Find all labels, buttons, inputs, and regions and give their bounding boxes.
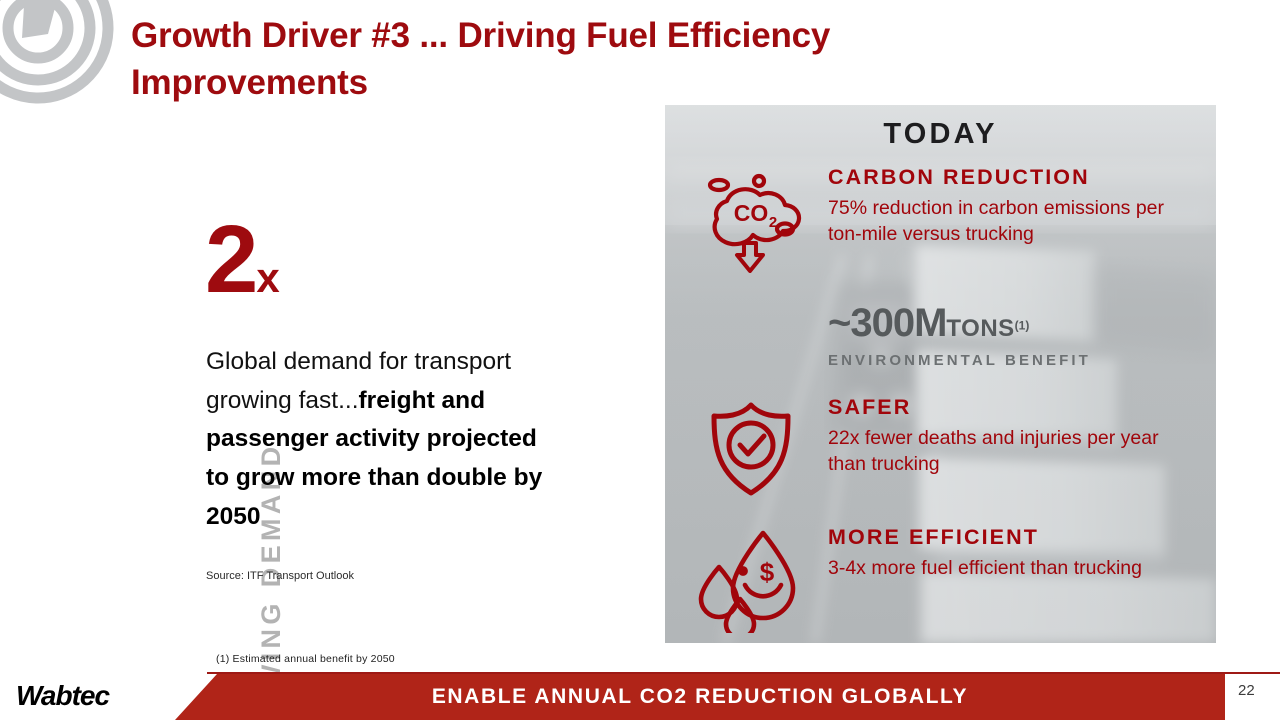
water-drop-dollar-icon: $	[697, 525, 805, 633]
panel-row-text: MORE EFFICIENT 3-4x more fuel efficient …	[828, 525, 1198, 581]
wabtec-ring-watermark-icon	[0, 0, 126, 122]
svg-text:CO: CO	[734, 200, 769, 226]
co2-cloud-icon: CO 2	[697, 165, 805, 273]
panel-header-today: TODAY	[665, 118, 1216, 151]
row-body: 3-4x more fuel efficient than trucking	[828, 555, 1198, 581]
tons-unit: TONS	[946, 315, 1014, 342]
tons-number: ~300M	[828, 301, 946, 345]
panel-row-text: SAFER 22x fewer deaths and injuries per …	[828, 395, 1198, 477]
today-panel: TODAY CO 2 CARBON REDUCTION 75% r	[665, 105, 1216, 643]
shield-check-icon	[697, 395, 805, 503]
left-body-text: Global demand for transport growing fast…	[206, 343, 556, 537]
slide: Growth Driver #3 ... Driving Fuel Effici…	[0, 0, 1280, 720]
tons-footnote-marker: (1)	[1015, 319, 1030, 333]
environmental-benefit-number: ~300MTONS(1)	[828, 303, 1216, 343]
row-heading: CARBON REDUCTION	[828, 165, 1198, 191]
row-body: 75% reduction in carbon emissions per to…	[828, 195, 1198, 247]
environmental-benefit-caption: ENVIRONMENTAL BENEFIT	[828, 352, 1216, 369]
page-title: Growth Driver #3 ... Driving Fuel Effici…	[131, 13, 1011, 107]
stat-2x-unit: x	[256, 254, 279, 301]
page-number: 22	[1238, 682, 1255, 699]
footer-banner-text: ENABLE ANNUAL CO2 REDUCTION GLOBALLY	[175, 674, 1225, 720]
svg-text:$: $	[760, 557, 775, 587]
stat-2x: 2x	[205, 212, 280, 308]
row-body: 22x fewer deaths and injuries per year t…	[828, 425, 1198, 477]
panel-content: TODAY CO 2 CARBON REDUCTION 75% r	[665, 105, 1216, 643]
svg-text:2: 2	[769, 214, 777, 231]
footnote: (1) Estimated annual benefit by 2050	[216, 653, 395, 665]
wabtec-logo: Wabtec	[16, 680, 109, 712]
source-note: Source: ITF Transport Outlook	[206, 570, 354, 582]
row-heading: SAFER	[828, 395, 1198, 421]
stat-2x-value: 2	[205, 206, 256, 313]
row-heading: MORE EFFICIENT	[828, 525, 1198, 551]
panel-row-text: CARBON REDUCTION 75% reduction in carbon…	[828, 165, 1198, 247]
